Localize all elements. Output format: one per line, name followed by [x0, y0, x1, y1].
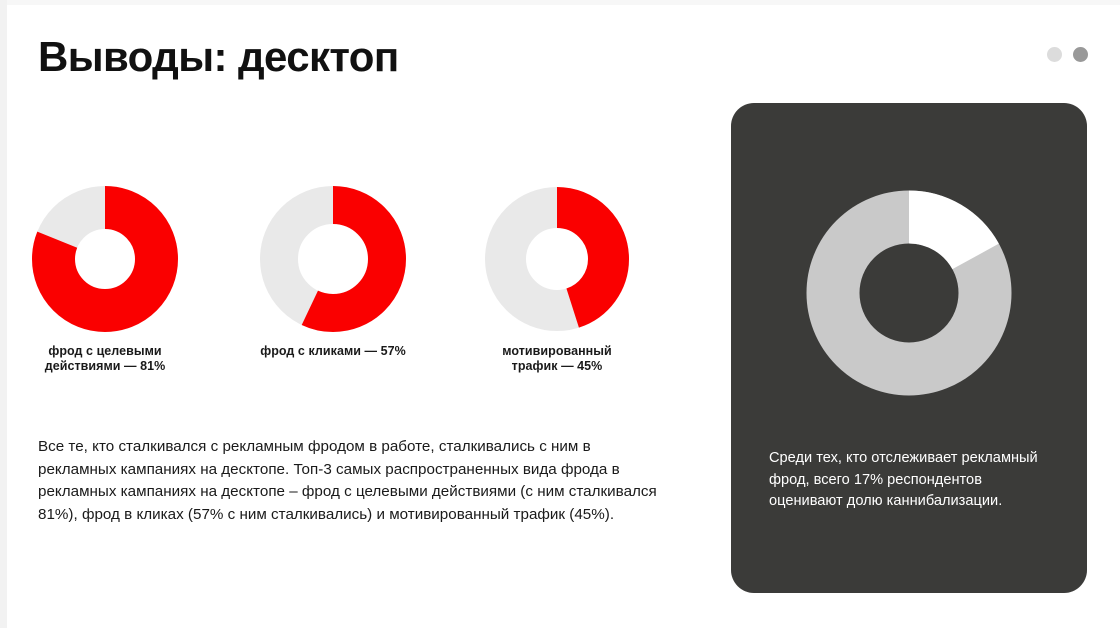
- donut-chart-2-graphic: [260, 186, 406, 332]
- card-caption: Среди тех, кто отслеживает рекламный фро…: [769, 448, 1054, 513]
- donut-chart-1: фрод с целевыми действиями — 81%: [5, 186, 205, 374]
- donut-chart-3-caption: мотивированный трафик — 45%: [502, 344, 611, 374]
- highlight-card: Среди тех, кто отслеживает рекламный фро…: [731, 103, 1087, 593]
- canvas-top-edge: [0, 0, 1120, 5]
- donut-chart-1-label-line1: фрод с целевыми: [48, 344, 161, 358]
- pager-dots[interactable]: [1047, 47, 1088, 62]
- donut-chart-1-label-line2: действиями — 81%: [45, 359, 166, 373]
- donut-chart-3-label-line2: трафик — 45%: [512, 359, 603, 373]
- donut-chart-row: фрод с целевыми действиями — 81% фрод с …: [0, 186, 700, 396]
- donut-chart-2-caption: фрод с кликами — 57%: [260, 344, 406, 359]
- card-donut-chart-graphic: [804, 188, 1014, 398]
- donut-chart-3: мотивированный трафик — 45%: [457, 186, 657, 374]
- pager-dot-1[interactable]: [1047, 47, 1062, 62]
- donut-chart-3-label-line1: мотивированный: [502, 344, 611, 358]
- slide-root: Выводы: десктоп фрод с целевыми действия…: [0, 0, 1120, 628]
- donut-chart-2-label-line1: фрод с кликами — 57%: [260, 344, 406, 358]
- pager-dot-2[interactable]: [1073, 47, 1088, 62]
- card-donut-wrapper: [731, 188, 1087, 398]
- donut-chart-1-graphic: [32, 186, 178, 332]
- donut-chart-2: фрод с кликами — 57%: [233, 186, 433, 359]
- page-title: Выводы: десктоп: [38, 32, 399, 82]
- donut-chart-1-caption: фрод с целевыми действиями — 81%: [45, 344, 166, 374]
- donut-chart-3-graphic: [484, 186, 630, 332]
- body-paragraph: Все те, кто сталкивался с рекламным фрод…: [38, 436, 663, 526]
